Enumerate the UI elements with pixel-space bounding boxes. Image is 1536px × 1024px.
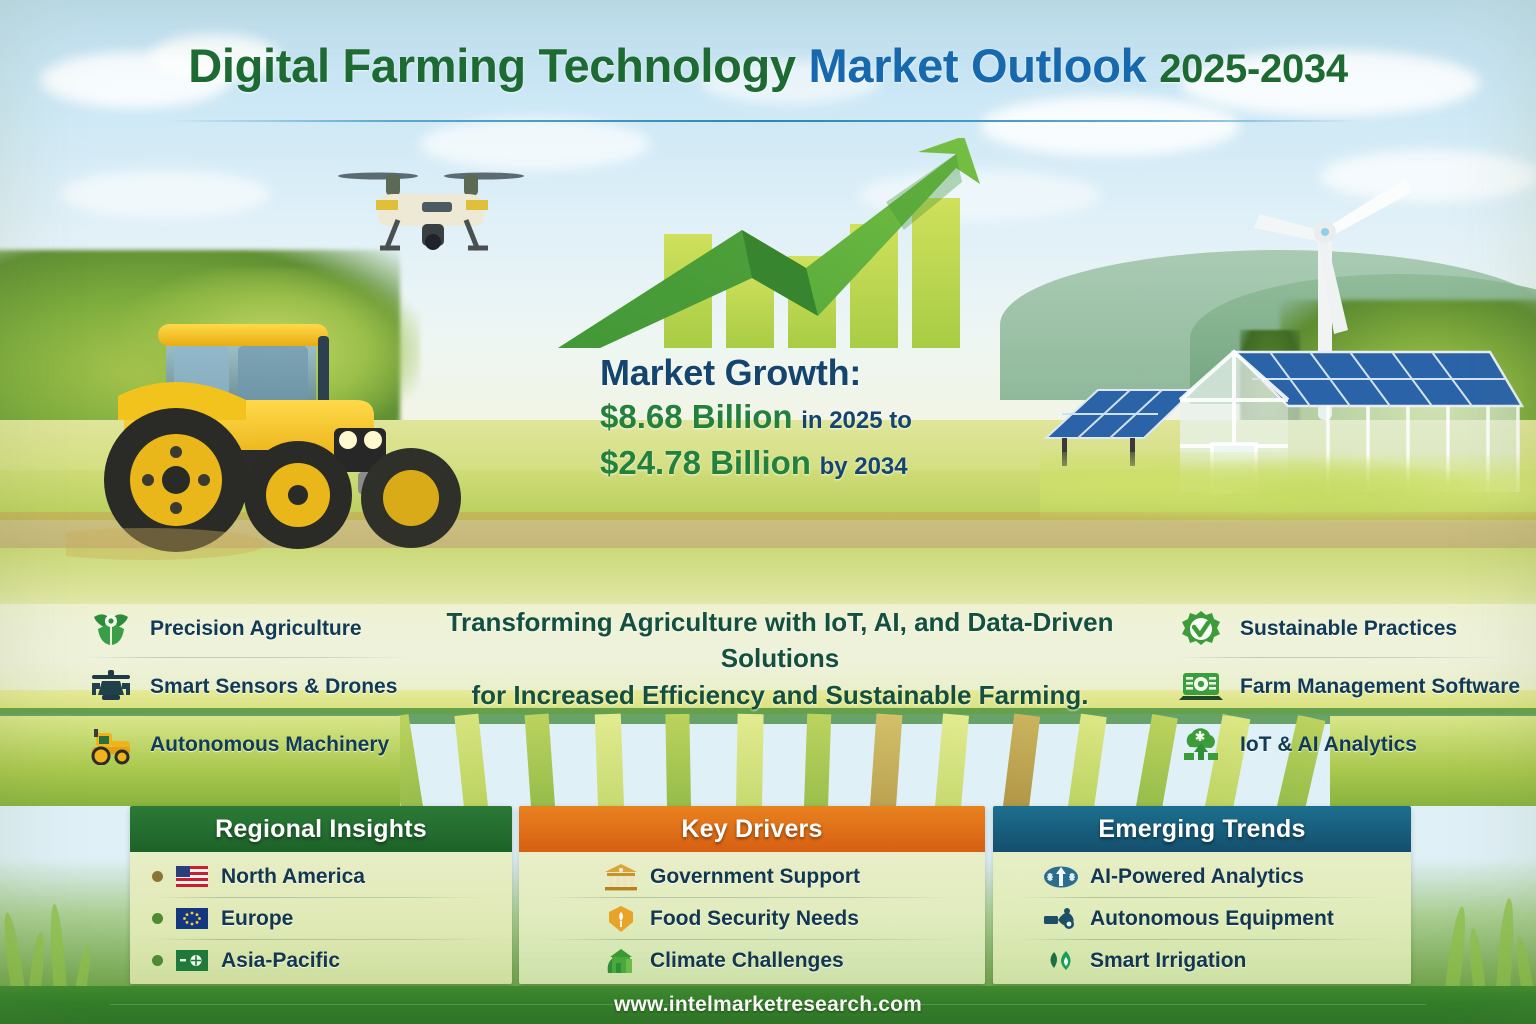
panel-item-label: Asia-Pacific: [221, 949, 340, 973]
bullet-marker: [152, 871, 163, 882]
grain-shield-icon: [603, 903, 639, 935]
feature-precision-agriculture[interactable]: Precision Agriculture: [84, 600, 414, 657]
features-right-list: Sustainable Practices Farm Managemen: [1174, 600, 1504, 773]
autonomous-tractor-icon: [84, 723, 138, 767]
tagline: Transforming Agriculture with IoT, AI, a…: [400, 604, 1160, 713]
precision-crosshair-icon: [84, 607, 138, 651]
feature-iot-ai-analytics[interactable]: IoT & AI Analytics: [1174, 716, 1504, 773]
cloud-network-icon: [1174, 723, 1228, 767]
title-years: 2025-2034: [1159, 47, 1348, 91]
panel-item-north-america[interactable]: North America: [130, 856, 512, 897]
panel-body: North America Europe: [130, 852, 512, 984]
flag-eu-icon: [174, 903, 210, 935]
climate-plants-icon: [603, 945, 639, 977]
feature-label: Autonomous Machinery: [150, 733, 389, 757]
bullet-marker: [152, 955, 163, 966]
panel-item-label: AI-Powered Analytics: [1090, 865, 1304, 889]
panel-item-smart-irrigation[interactable]: Smart Irrigation: [993, 940, 1411, 981]
water-drop-icon: [1043, 945, 1079, 977]
market-growth-line-1: $8.68 Billion in 2025 to: [600, 394, 1000, 440]
market-start-suffix: in 2025 to: [801, 407, 912, 434]
panel-emerging-trends: Emerging Trends AI-Powered Analytics: [993, 806, 1411, 984]
flag-asia-pacific-icon: [174, 945, 210, 977]
footer-url[interactable]: www.intelmarketresearch.com: [614, 993, 922, 1017]
market-growth-heading: Market Growth:: [600, 352, 1000, 394]
feature-farm-management-software[interactable]: Farm Management Software: [1174, 658, 1504, 715]
feature-autonomous-machinery[interactable]: Autonomous Machinery: [84, 716, 414, 773]
panel-item-label: Smart Irrigation: [1090, 949, 1246, 973]
laptop-software-icon: [1174, 665, 1228, 709]
panel-item-food-security[interactable]: Food Security Needs: [519, 898, 985, 939]
feature-label: Sustainable Practices: [1240, 617, 1457, 641]
panel-title: Key Drivers: [519, 806, 985, 852]
panel-body: AI-Powered Analytics Autonomous Equipmen…: [993, 852, 1411, 984]
market-end-suffix: by 2034: [820, 453, 908, 480]
footer-bar: www.intelmarketresearch.com: [0, 986, 1536, 1024]
title-part-1: Digital Farming Technology: [188, 39, 796, 92]
panel-title: Regional Insights: [130, 806, 512, 852]
panel-item-label: Government Support: [650, 865, 860, 889]
panel-item-label: Europe: [221, 907, 293, 931]
feature-label: Farm Management Software: [1240, 675, 1520, 699]
market-growth-block: Market Growth: $8.68 Billion in 2025 to …: [600, 352, 1000, 485]
panel-item-label: North America: [221, 865, 365, 889]
infographic-canvas: Digital Farming Technology Market Outloo…: [0, 0, 1536, 1024]
title-divider: [170, 120, 1366, 122]
greenhouse-bushes: [1040, 452, 1536, 532]
feature-smart-sensors-drones[interactable]: Smart Sensors & Drones: [84, 658, 414, 715]
panel-item-label: Food Security Needs: [650, 907, 859, 931]
bank-building-icon: [603, 861, 639, 893]
quadcopter-drone-illustration: [336, 156, 526, 264]
title-part-2: Market Outlook: [809, 39, 1147, 92]
tagline-line-2: for Increased Efficiency and Sustainable…: [400, 677, 1160, 713]
panel-regional-insights: Regional Insights North America: [130, 806, 512, 984]
footer-divider: [110, 1004, 1426, 1005]
flag-usa-icon: [174, 861, 210, 893]
panel-item-autonomous-equipment[interactable]: Autonomous Equipment: [993, 898, 1411, 939]
panel-body: Government Support Food Security Needs: [519, 852, 985, 984]
feature-label: Smart Sensors & Drones: [150, 675, 397, 699]
feature-label: IoT & AI Analytics: [1240, 733, 1417, 757]
green-upward-arrow-chart: [556, 138, 1006, 368]
panel-title: Emerging Trends: [993, 806, 1411, 852]
yellow-tractor-illustration: [66, 300, 466, 562]
sensor-drone-icon: [84, 665, 138, 709]
feature-sustainable-practices[interactable]: Sustainable Practices: [1174, 600, 1504, 657]
panel-item-label: Autonomous Equipment: [1090, 907, 1334, 931]
market-end-value: $24.78 Billion: [600, 444, 811, 481]
feature-label: Precision Agriculture: [150, 617, 362, 641]
panel-item-government-support[interactable]: Government Support: [519, 856, 985, 897]
market-growth-line-2: $24.78 Billion by 2034: [600, 440, 1000, 486]
panel-item-europe[interactable]: Europe: [130, 898, 512, 939]
features-left-list: Precision Agriculture Smart Sensors & Dr…: [84, 600, 414, 773]
panel-item-ai-powered-analytics[interactable]: AI-Powered Analytics: [993, 856, 1411, 897]
panel-key-drivers: Key Drivers Government Support: [519, 806, 985, 984]
bullet-marker: [152, 913, 163, 924]
ai-arrow-icon: [1043, 861, 1079, 893]
page-title: Digital Farming Technology Market Outloo…: [0, 38, 1536, 93]
robot-arm-icon: [1043, 903, 1079, 935]
market-start-value: $8.68 Billion: [600, 398, 793, 435]
tagline-line-1: Transforming Agriculture with IoT, AI, a…: [400, 604, 1160, 677]
panel-item-asia-pacific[interactable]: Asia-Pacific: [130, 940, 512, 981]
gear-check-icon: [1174, 607, 1228, 651]
panel-item-climate-challenges[interactable]: Climate Challenges: [519, 940, 985, 981]
panel-item-label: Climate Challenges: [650, 949, 844, 973]
